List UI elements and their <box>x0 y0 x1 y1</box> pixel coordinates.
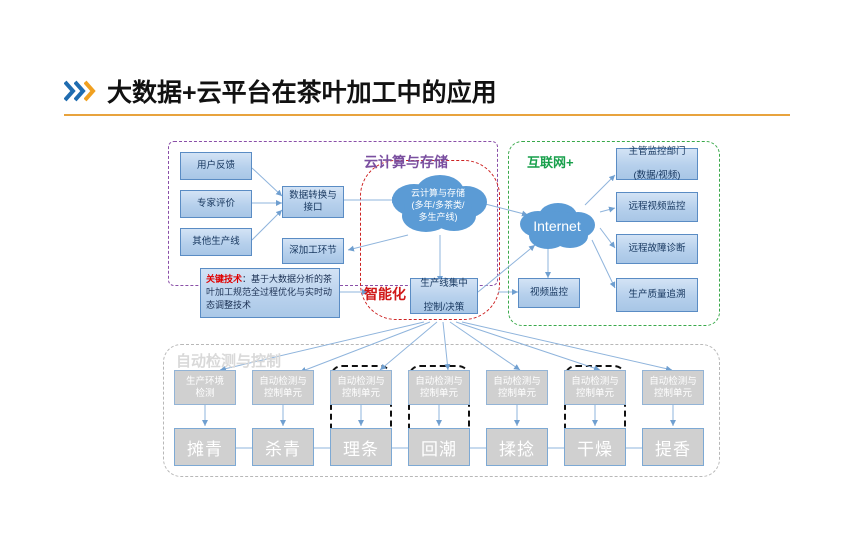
right-box-line-1: 主管监控部门 <box>628 146 685 158</box>
quality-traceability-box[interactable]: 生产质量追溯 <box>616 278 698 312</box>
detect-unit-line-1: 自动检测与 <box>649 376 697 387</box>
process-step-tanqing[interactable]: 摊青 <box>174 428 236 466</box>
detect-unit-5[interactable]: 自动检测与 控制单元 <box>486 370 548 405</box>
process-step-label: 干燥 <box>577 435 613 460</box>
right-box-line-1: 生产质量追溯 <box>628 289 685 301</box>
process-step-tixiang[interactable]: 提香 <box>642 428 704 466</box>
key-technology-keyword: 关键技术 <box>206 274 242 284</box>
detect-unit-line-1: 自动检测与 <box>571 376 619 387</box>
process-step-rounian[interactable]: 揉捻 <box>486 428 548 466</box>
detect-unit-7[interactable]: 自动检测与 控制单元 <box>642 370 704 405</box>
internet-cloud-shape: Internet <box>514 200 600 252</box>
video-monitor-label: 视频监控 <box>530 287 568 299</box>
production-line-control-box[interactable]: 生产线集中 控制/决策 <box>410 278 478 314</box>
input-box-label: 其他生产线 <box>192 236 240 248</box>
control-box-line-2: 控制/决策 <box>420 302 468 314</box>
input-box-user-feedback[interactable]: 用户反馈 <box>180 152 252 180</box>
detect-unit-line-2: 控制单元 <box>654 388 692 399</box>
process-step-shaqing[interactable]: 杀青 <box>252 428 314 466</box>
detect-unit-6[interactable]: 自动检测与 控制单元 <box>564 370 626 405</box>
right-box-line-1: 远程故障诊断 <box>628 243 685 255</box>
input-box-label: 用户反馈 <box>197 160 235 172</box>
detect-unit-line-1: 生产环境 <box>186 376 224 387</box>
data-conversion-interface-box[interactable]: 数据转换与接口 <box>282 186 344 218</box>
detect-unit-4[interactable]: 自动检测与 控制单元 <box>408 370 470 405</box>
deep-processing-label: 深加工环节 <box>289 245 337 257</box>
control-box-line-1: 生产线集中 <box>420 278 468 290</box>
page-title: 大数据+云平台在茶叶加工中的应用 <box>107 73 497 109</box>
detect-unit-line-2: 控制单元 <box>264 388 302 399</box>
input-box-label: 专家评价 <box>197 198 235 210</box>
intelligence-region-label: 智能化 <box>364 284 406 304</box>
data-conversion-label: 数据转换与接口 <box>285 190 341 214</box>
process-step-label: 摊青 <box>187 435 223 460</box>
remote-video-monitor-box[interactable]: 远程视频监控 <box>616 192 698 222</box>
auto-detect-region-label: 自动检测与控制 <box>176 350 281 371</box>
detect-unit-line-1: 自动检测与 <box>259 376 307 387</box>
right-box-line-2: (数据/视频) <box>628 170 685 182</box>
remote-fault-diagnosis-box[interactable]: 远程故障诊断 <box>616 234 698 264</box>
slide-canvas: 大数据+云平台在茶叶加工中的应用 <box>0 0 855 560</box>
title-divider <box>64 114 790 116</box>
right-box-line-1: 远程视频监控 <box>628 201 685 213</box>
deep-processing-box[interactable]: 深加工环节 <box>282 238 344 264</box>
input-box-expert-evaluation[interactable]: 专家评价 <box>180 190 252 218</box>
input-box-other-lines[interactable]: 其他生产线 <box>180 228 252 256</box>
supervision-department-box[interactable]: 主管监控部门 (数据/视频) <box>616 148 698 180</box>
video-monitor-box[interactable]: 视频监控 <box>518 278 580 308</box>
key-technology-separator: ： <box>242 274 251 284</box>
cloud-storage-region-label: 云计算与存储 <box>364 152 448 172</box>
detect-unit-line-1: 自动检测与 <box>415 376 463 387</box>
process-step-label: 提香 <box>655 435 691 460</box>
process-step-label: 回潮 <box>421 435 457 460</box>
detect-unit-line-2: 检测 <box>195 388 214 399</box>
detect-unit-3[interactable]: 自动检测与 控制单元 <box>330 370 392 405</box>
process-step-ganzao[interactable]: 干燥 <box>564 428 626 466</box>
key-technology-box: 关键技术：基于大数据分析的茶叶加工规范全过程优化与实时动态调整技术 <box>200 268 340 318</box>
detect-unit-2[interactable]: 自动检测与 控制单元 <box>252 370 314 405</box>
detect-unit-line-2: 控制单元 <box>498 388 536 399</box>
process-step-label: 理条 <box>343 435 379 460</box>
process-step-licao[interactable]: 理条 <box>330 428 392 466</box>
detect-unit-line-2: 控制单元 <box>342 388 380 399</box>
process-step-label: 揉捻 <box>499 435 535 460</box>
internet-plus-region-label: 互联网+ <box>527 152 574 171</box>
detect-unit-line-1: 自动检测与 <box>493 376 541 387</box>
detect-unit-line-2: 控制单元 <box>420 388 458 399</box>
process-step-label: 杀青 <box>265 435 301 460</box>
slide-title-row: 大数据+云平台在茶叶加工中的应用 <box>64 74 497 108</box>
chevron-right-icon <box>84 80 97 102</box>
cloud-computing-shape: 云计算与存储 (多年/多茶类/ 多生产线) <box>384 172 492 238</box>
detect-unit-line-1: 自动检测与 <box>337 376 385 387</box>
detect-unit-env[interactable]: 生产环境 检测 <box>174 370 236 405</box>
process-step-huichao[interactable]: 回潮 <box>408 428 470 466</box>
detect-unit-line-2: 控制单元 <box>576 388 614 399</box>
